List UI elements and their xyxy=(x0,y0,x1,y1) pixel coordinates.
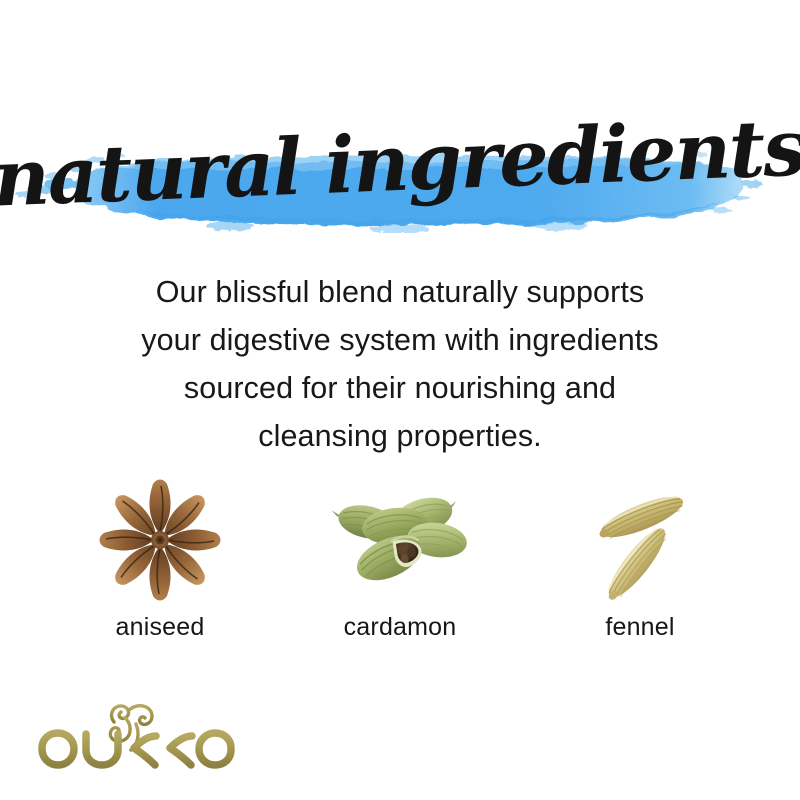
body-copy: Our blissful blend naturally supports yo… xyxy=(50,268,750,460)
page-title: natural ingredients xyxy=(0,98,800,233)
ingredients-row: aniseed xyxy=(40,462,760,642)
ingredient-fennel: fennel xyxy=(520,477,760,642)
ingredient-label-aniseed: aniseed xyxy=(116,613,205,642)
ingredient-cardamon: cardamon xyxy=(280,477,520,642)
body-line-3: sourced for their nourishing and xyxy=(50,364,750,412)
page-title-text: natural ingredients xyxy=(0,102,800,224)
cardamom-pods-icon xyxy=(315,477,485,607)
fennel-seeds-icon xyxy=(575,477,705,607)
body-line-2: your digestive system with ingredients xyxy=(50,316,750,364)
promo-card: natural ingredients Our blissful blend n… xyxy=(0,0,800,800)
brand-logo xyxy=(28,686,248,786)
body-line-1: Our blissful blend naturally supports xyxy=(50,268,750,316)
ingredient-label-fennel: fennel xyxy=(605,613,674,642)
ingredient-label-cardamon: cardamon xyxy=(344,613,457,642)
heading-band: natural ingredients xyxy=(0,98,800,233)
ingredient-aniseed: aniseed xyxy=(40,477,280,642)
star-anise-icon xyxy=(85,477,235,607)
body-line-4: cleansing properties. xyxy=(50,412,750,460)
